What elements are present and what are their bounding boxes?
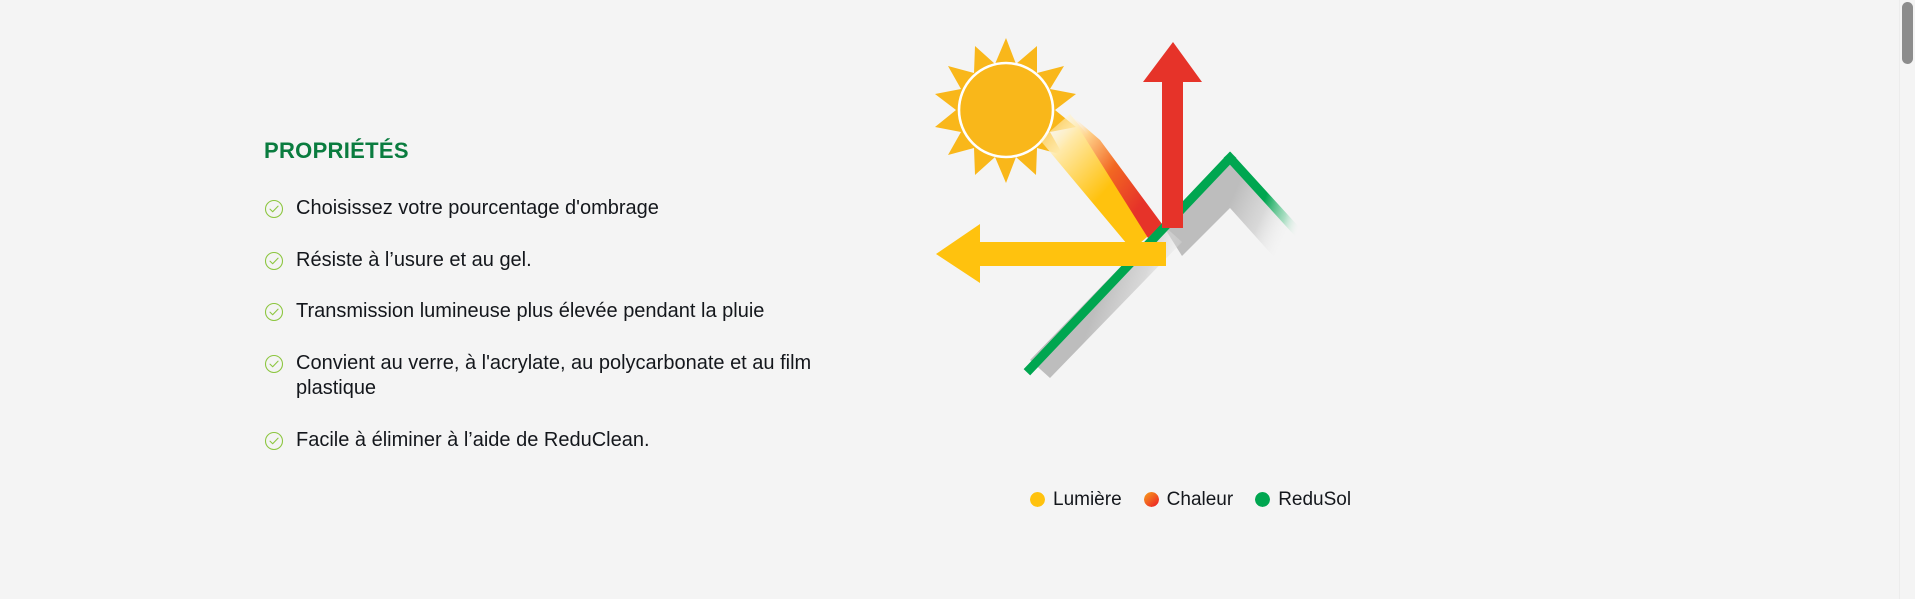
legend-dot-redusol-icon: [1255, 492, 1270, 507]
legend-item-light: Lumière: [1030, 490, 1122, 509]
list-item: Facile à éliminer à l’aide de ReduClean.: [264, 428, 884, 454]
list-item-label: Facile à éliminer à l’aide de ReduClean.: [296, 428, 650, 454]
check-circle-icon: [264, 302, 284, 322]
redusol-roof-diagram: Lumière Chaleur: [930, 28, 1490, 548]
legend-label: ReduSol: [1278, 490, 1351, 509]
check-circle-icon: [264, 431, 284, 451]
check-circle-icon: [264, 354, 284, 374]
list-item: Choisissez votre pourcentage d'ombrage: [264, 196, 884, 222]
list-item-label: Choisissez votre pourcentage d'ombrage: [296, 196, 659, 222]
legend-dot-light-icon: [1030, 492, 1045, 507]
scrollbar-thumb[interactable]: [1902, 2, 1913, 64]
page-scrollbar[interactable]: [1899, 0, 1915, 599]
legend-dot-heat-icon: [1144, 492, 1159, 507]
properties-list: Choisissez votre pourcentage d'ombrage R…: [264, 196, 884, 454]
list-item-label: Résiste à l’usure et au gel.: [296, 248, 532, 274]
page-root: PROPRIÉTÉS Choisissez votre pourcentage …: [0, 0, 1915, 599]
check-circle-icon: [264, 199, 284, 219]
sun-icon: [935, 38, 1076, 183]
list-item-label: Transmission lumineuse plus élevée penda…: [296, 299, 764, 325]
legend-label: Lumière: [1053, 490, 1122, 509]
list-item-label: Convient au verre, à l'acrylate, au poly…: [296, 351, 884, 402]
diagram-illustration: [930, 28, 1390, 448]
properties-section: PROPRIÉTÉS Choisissez votre pourcentage …: [264, 140, 884, 454]
page-title: PROPRIÉTÉS: [264, 140, 884, 162]
list-item: Résiste à l’usure et au gel.: [264, 248, 884, 274]
legend-item-redusol: ReduSol: [1255, 490, 1351, 509]
list-item: Convient au verre, à l'acrylate, au poly…: [264, 351, 884, 402]
legend-label: Chaleur: [1167, 490, 1234, 509]
diagram-legend: Lumière Chaleur: [1030, 490, 1351, 509]
check-circle-icon: [264, 251, 284, 271]
list-item: Transmission lumineuse plus élevée penda…: [264, 299, 884, 325]
legend-item-heat: Chaleur: [1144, 490, 1234, 509]
